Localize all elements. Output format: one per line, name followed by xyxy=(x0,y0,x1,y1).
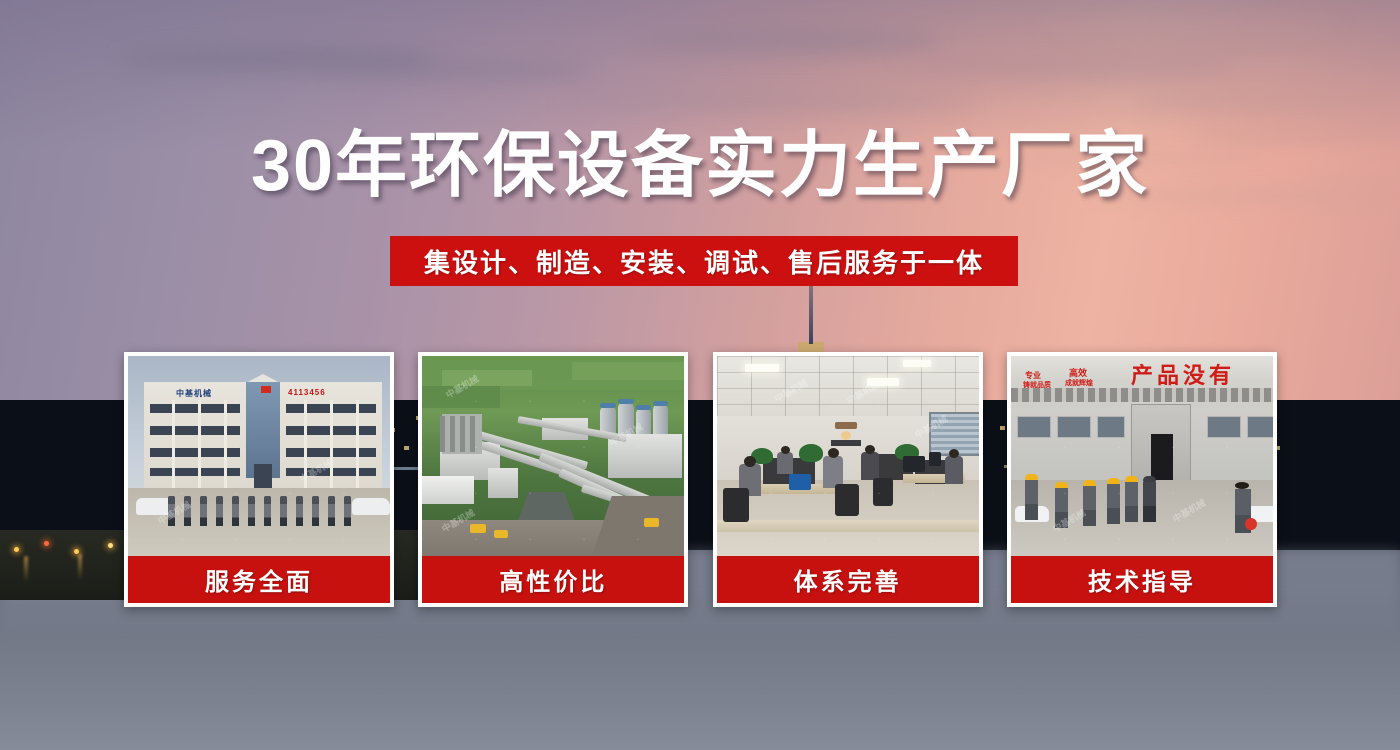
card-caption-text: 高性价比 xyxy=(499,562,607,597)
card-caption: 高性价比 xyxy=(422,556,684,603)
banner-subtitle-bar: 集设计、制造、安装、调试、售后服务于一体 xyxy=(390,236,1018,286)
building-phone-text: 4113456 xyxy=(288,388,326,397)
company-headquarters-photo: 中基机械 4113456 中基机械 中基机械 xyxy=(128,356,390,556)
feature-card[interactable]: 中基机械 4113456 中基机械 中基机械 xyxy=(124,352,394,607)
card-caption: 技术指导 xyxy=(1011,556,1273,603)
card-caption: 体系完善 xyxy=(717,556,979,603)
feature-card[interactable]: 产品没有 专业 铸就品质 高效 成就辉煌 xyxy=(1007,352,1277,607)
banner-headline: 30年环保设备实力生产厂家 xyxy=(0,130,1400,202)
factory-slogan-text: 产品没有 xyxy=(1131,358,1235,390)
banner-subtitle-text: 集设计、制造、安装、调试、售后服务于一体 xyxy=(424,243,984,280)
card-caption: 服务全面 xyxy=(128,556,390,603)
card-caption-text: 技术指导 xyxy=(1088,562,1196,597)
aerial-plant-photo: 中基机械 中基机械 中基机械 xyxy=(422,356,684,556)
feature-card[interactable]: 中基机械 中基机械 中基机械 体系完善 xyxy=(713,352,983,607)
workshop-training-photo: 产品没有 专业 铸就品质 高效 成就辉煌 xyxy=(1011,356,1273,556)
office-interior-photo: 中基机械 中基机械 中基机械 xyxy=(717,356,979,556)
card-caption-text: 体系完善 xyxy=(794,562,902,597)
feature-card-list: 中基机械 4113456 中基机械 中基机械 xyxy=(124,352,1277,607)
banner-stage: 30年环保设备实力生产厂家 集设计、制造、安装、调试、售后服务于一体 xyxy=(0,0,1400,750)
building-sign-text: 中基机械 xyxy=(176,388,212,399)
wall-decoration xyxy=(827,422,865,448)
feature-card[interactable]: 中基机械 中基机械 中基机械 高性价比 xyxy=(418,352,688,607)
card-caption-text: 服务全面 xyxy=(205,562,313,597)
red-helmet-icon xyxy=(1245,518,1257,530)
